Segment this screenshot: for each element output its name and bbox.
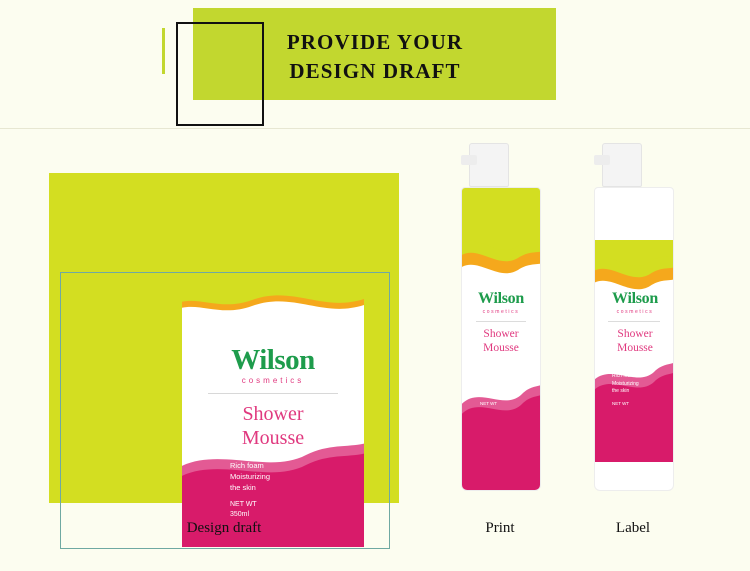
page-title-line1: PROVIDE YOUR <box>287 30 463 54</box>
print-net-label: NET WT <box>480 401 497 408</box>
caption-print: Print <box>450 520 550 537</box>
product-description: Rich foam Moisturizing the skin <box>230 460 350 493</box>
print-bottle-body: Wilson cosmetics Shower Mousse Rich foam… <box>461 187 541 491</box>
desc-line-2: Moisturizing <box>230 471 350 482</box>
label-top-wave-icon <box>182 292 364 328</box>
brand-name: Wilson <box>182 344 364 377</box>
header: PROVIDE YOUR DESIGN DRAFT <box>0 0 750 110</box>
label-brand-name: Wilson <box>594 290 674 308</box>
label-description: Rich foam Moisturizing the skin <box>612 373 639 396</box>
label-desc-line-3: the skin <box>612 388 639 396</box>
print-nozzle <box>461 155 477 165</box>
print-desc-line-3: the skin <box>480 388 507 396</box>
print-product-name: Shower Mousse <box>462 327 540 355</box>
print-desc-line-1: Rich foam <box>480 373 507 381</box>
label-brand-subtitle: cosmetics <box>594 309 674 315</box>
label-product-line2: Mousse <box>617 342 653 354</box>
product-name-line1: Shower <box>242 403 303 425</box>
page-root: PROVIDE YOUR DESIGN DRAFT Wilson cosmeti… <box>0 0 750 571</box>
desc-line-3: the skin <box>230 482 350 493</box>
desc-line-1: Rich foam <box>230 460 350 471</box>
label-bottle-body: Wilson cosmetics Shower Mousse Rich foam… <box>594 187 674 491</box>
page-title: PROVIDE YOUR DESIGN DRAFT <box>200 28 550 86</box>
main-content: Wilson cosmetics Shower Mousse Rich foam… <box>0 129 750 571</box>
caption-design-draft: Design draft <box>49 520 399 537</box>
label-sticker-area: Wilson cosmetics Shower Mousse Rich foam… <box>594 240 674 462</box>
label-product-line1: Shower <box>617 328 652 340</box>
print-desc-line-2: Moisturizing <box>480 381 507 389</box>
label-desc-line-1: Rich foam <box>612 373 639 381</box>
label-net-weight: NET WT <box>612 401 629 408</box>
print-brand-divider <box>476 321 526 322</box>
print-brand-name: Wilson <box>462 290 540 308</box>
print-description: Rich foam Moisturizing the skin <box>480 373 507 396</box>
print-product-line2: Mousse <box>483 342 519 354</box>
print-product-line1: Shower <box>483 328 518 340</box>
design-draft-artboard: Wilson cosmetics Shower Mousse Rich foam… <box>49 173 399 503</box>
label-pump-cap <box>602 143 642 187</box>
label-brand-divider <box>608 321 660 322</box>
net-weight-value: 350ml <box>230 510 350 520</box>
product-name-line2: Mousse <box>242 427 304 449</box>
label-net-label: NET WT <box>612 401 629 408</box>
bottle-print: Wilson cosmetics Shower Mousse Rich foam… <box>455 143 545 503</box>
design-draft-label-artwork: Wilson cosmetics Shower Mousse Rich foam… <box>182 292 364 547</box>
product-name: Shower Mousse <box>182 402 364 450</box>
label-nozzle <box>594 155 610 165</box>
header-accent-tick <box>162 28 165 74</box>
net-weight: NET WT 350ml <box>230 500 350 520</box>
print-net-weight: NET WT <box>480 401 497 408</box>
brand-subtitle: cosmetics <box>182 376 364 385</box>
brand-divider <box>208 393 338 394</box>
caption-label: Label <box>583 520 683 537</box>
label-desc-line-2: Moisturizing <box>612 381 639 389</box>
net-weight-label: NET WT <box>230 500 350 510</box>
print-brand-subtitle: cosmetics <box>462 309 540 315</box>
label-product-name: Shower Mousse <box>594 327 674 355</box>
label-bottom-wave-icon <box>594 352 674 462</box>
print-pump-cap <box>469 143 509 187</box>
page-title-line2: DESIGN DRAFT <box>200 57 550 86</box>
bottle-label: Wilson cosmetics Shower Mousse Rich foam… <box>588 143 678 503</box>
